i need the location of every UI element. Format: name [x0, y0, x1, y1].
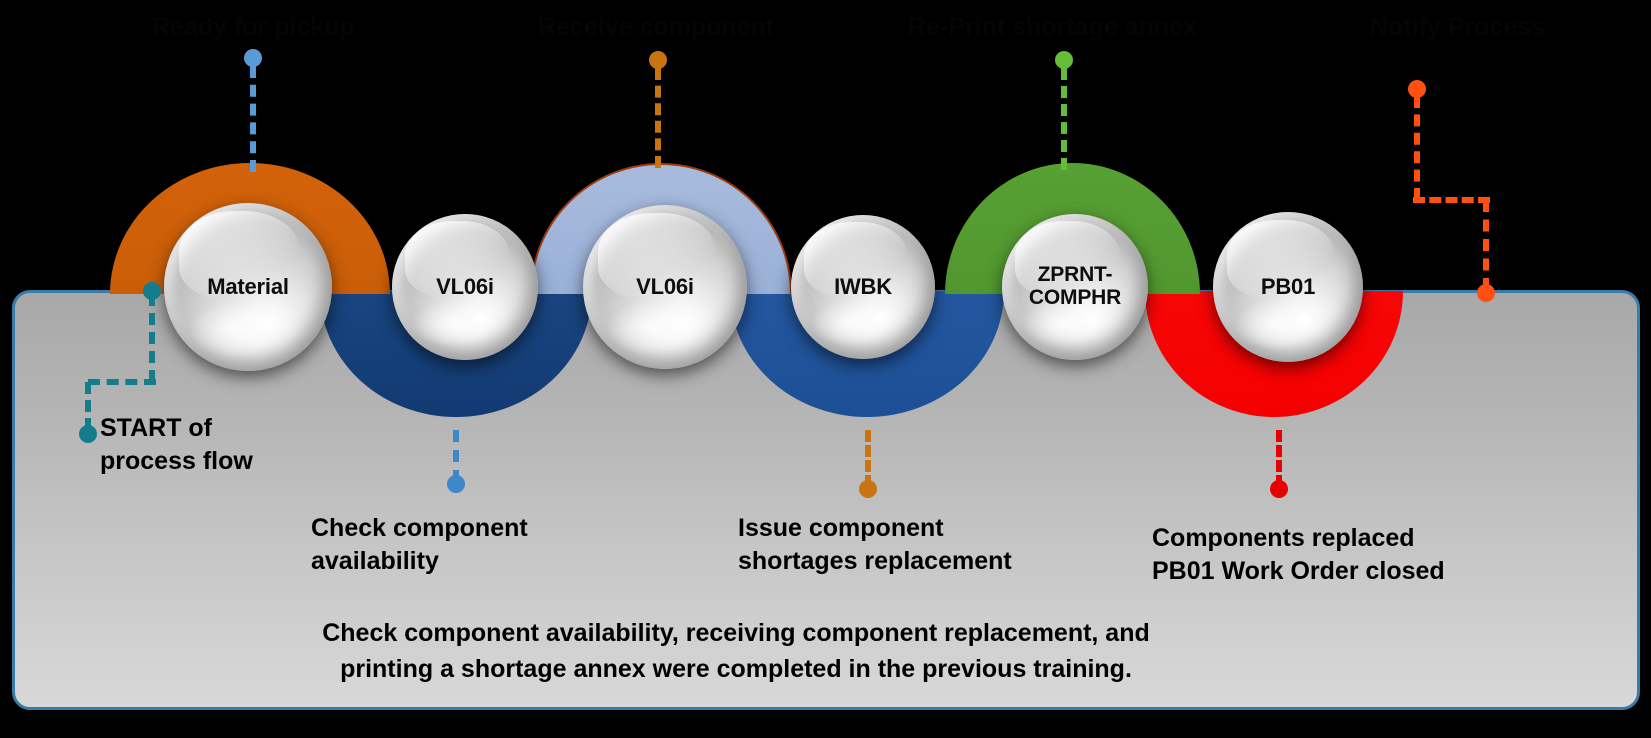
- connector-components-replaced-segment-0: [1276, 430, 1282, 487]
- diagram-canvas: MaterialVL06iVL06iIWBKZPRNT- COMPHRPB01 …: [0, 0, 1651, 738]
- label-start-of-process-flow: START of process flow: [100, 412, 253, 478]
- label-issue-component: Issue component shortages replacement: [738, 512, 1012, 578]
- connector-components-replaced-dot: [1270, 480, 1288, 498]
- summary-note: Check component availability, receiving …: [256, 616, 1216, 687]
- label-components-replaced: Components replaced PB01 Work Order clos…: [1152, 522, 1445, 588]
- label-check-component: Check component availability: [311, 512, 528, 578]
